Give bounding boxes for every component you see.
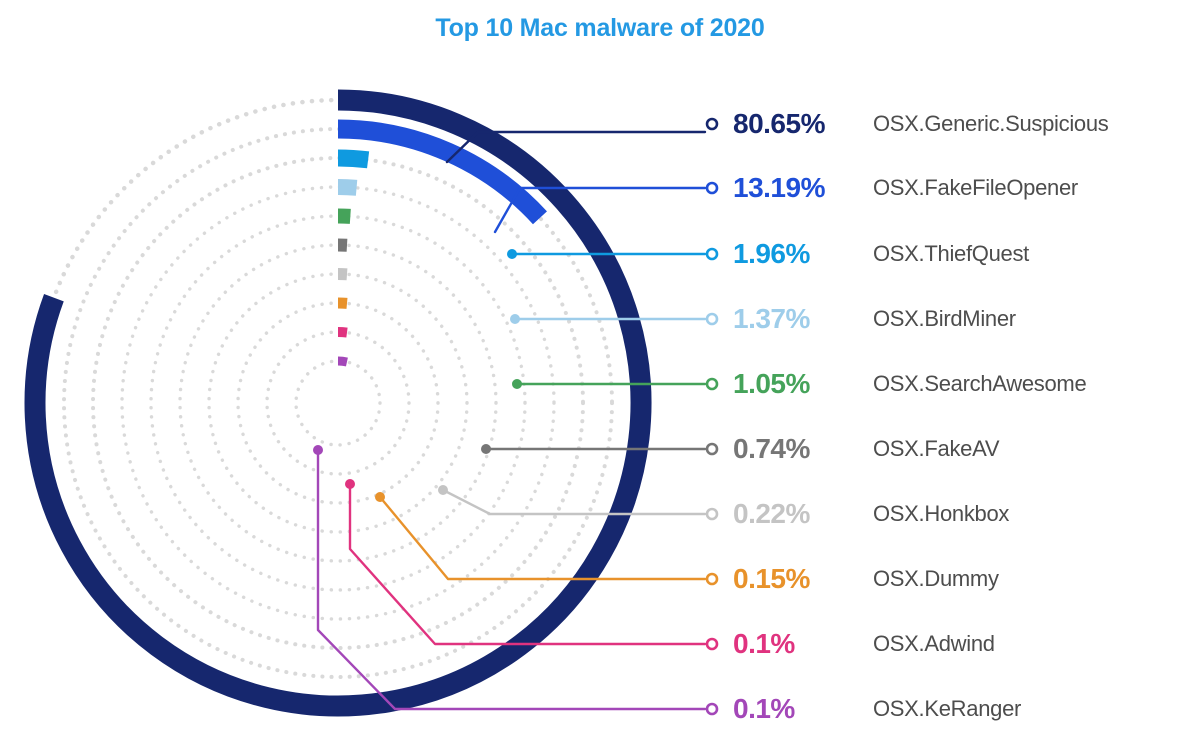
leader-end-marker xyxy=(707,183,717,193)
legend-label: OSX.Dummy xyxy=(873,566,999,592)
legend-item[interactable]: 0.22%OSX.Honkbox xyxy=(733,494,1009,534)
legend-label: OSX.BirdMiner xyxy=(873,306,1016,332)
leader-end-marker xyxy=(707,119,717,129)
leader-start-dot xyxy=(510,314,520,324)
leader-end-marker xyxy=(707,314,717,324)
legend-percentage: 0.22% xyxy=(733,498,873,530)
leader-start-dot xyxy=(313,445,323,455)
radial-bar xyxy=(338,361,347,362)
leader-end-marker xyxy=(707,379,717,389)
leader-end-marker xyxy=(707,639,717,649)
legend-label: OSX.SearchAwesome xyxy=(873,371,1086,397)
leader-start-dot xyxy=(481,444,491,454)
legend-label: OSX.Honkbox xyxy=(873,501,1009,527)
legend-percentage: 0.1% xyxy=(733,693,873,725)
legend-label: OSX.Generic.Suspicious xyxy=(873,111,1109,137)
legend-label: OSX.FakeAV xyxy=(873,436,999,462)
leader-lines xyxy=(313,119,717,714)
radial-bar xyxy=(338,158,368,160)
legend-item[interactable]: 0.1%OSX.KeRanger xyxy=(733,689,1021,729)
leader-start-dot xyxy=(345,479,355,489)
legend-percentage: 1.37% xyxy=(733,303,873,335)
radial-bar xyxy=(338,187,357,188)
legend-item[interactable]: 13.19%OSX.FakeFileOpener xyxy=(733,168,1078,208)
legend-label: OSX.ThiefQuest xyxy=(873,241,1029,267)
radial-bar xyxy=(35,100,641,706)
leader-end-marker xyxy=(707,509,717,519)
leader-end-marker xyxy=(707,704,717,714)
legend-item[interactable]: 1.37%OSX.BirdMiner xyxy=(733,299,1016,339)
legend-label: OSX.KeRanger xyxy=(873,696,1021,722)
legend-item[interactable]: 0.74%OSX.FakeAV xyxy=(733,429,999,469)
legend-percentage: 13.19% xyxy=(733,172,873,204)
legend-percentage: 1.96% xyxy=(733,238,873,270)
legend-percentage: 0.74% xyxy=(733,433,873,465)
legend-item[interactable]: 80.65%OSX.Generic.Suspicious xyxy=(733,104,1109,144)
legend-label: OSX.FakeFileOpener xyxy=(873,175,1078,201)
legend-item[interactable]: 0.1%OSX.Adwind xyxy=(733,624,995,664)
legend-label: OSX.Adwind xyxy=(873,631,995,657)
radial-bars xyxy=(35,100,641,706)
legend-item[interactable]: 0.15%OSX.Dummy xyxy=(733,559,999,599)
leader-end-marker xyxy=(707,574,717,584)
leader-start-dot xyxy=(507,249,517,259)
legend-item[interactable]: 1.96%OSX.ThiefQuest xyxy=(733,234,1029,274)
leader-end-marker xyxy=(707,444,717,454)
legend-percentage: 0.15% xyxy=(733,563,873,595)
legend-percentage: 1.05% xyxy=(733,368,873,400)
leader-end-marker xyxy=(707,249,717,259)
leader-start-dot xyxy=(375,492,385,502)
leader-line xyxy=(443,490,705,514)
legend-percentage: 80.65% xyxy=(733,108,873,140)
legend-percentage: 0.1% xyxy=(733,628,873,660)
radial-bar xyxy=(338,332,347,333)
legend-item[interactable]: 1.05%OSX.SearchAwesome xyxy=(733,364,1086,404)
leader-start-dot xyxy=(512,379,522,389)
leader-start-dot xyxy=(438,485,448,495)
